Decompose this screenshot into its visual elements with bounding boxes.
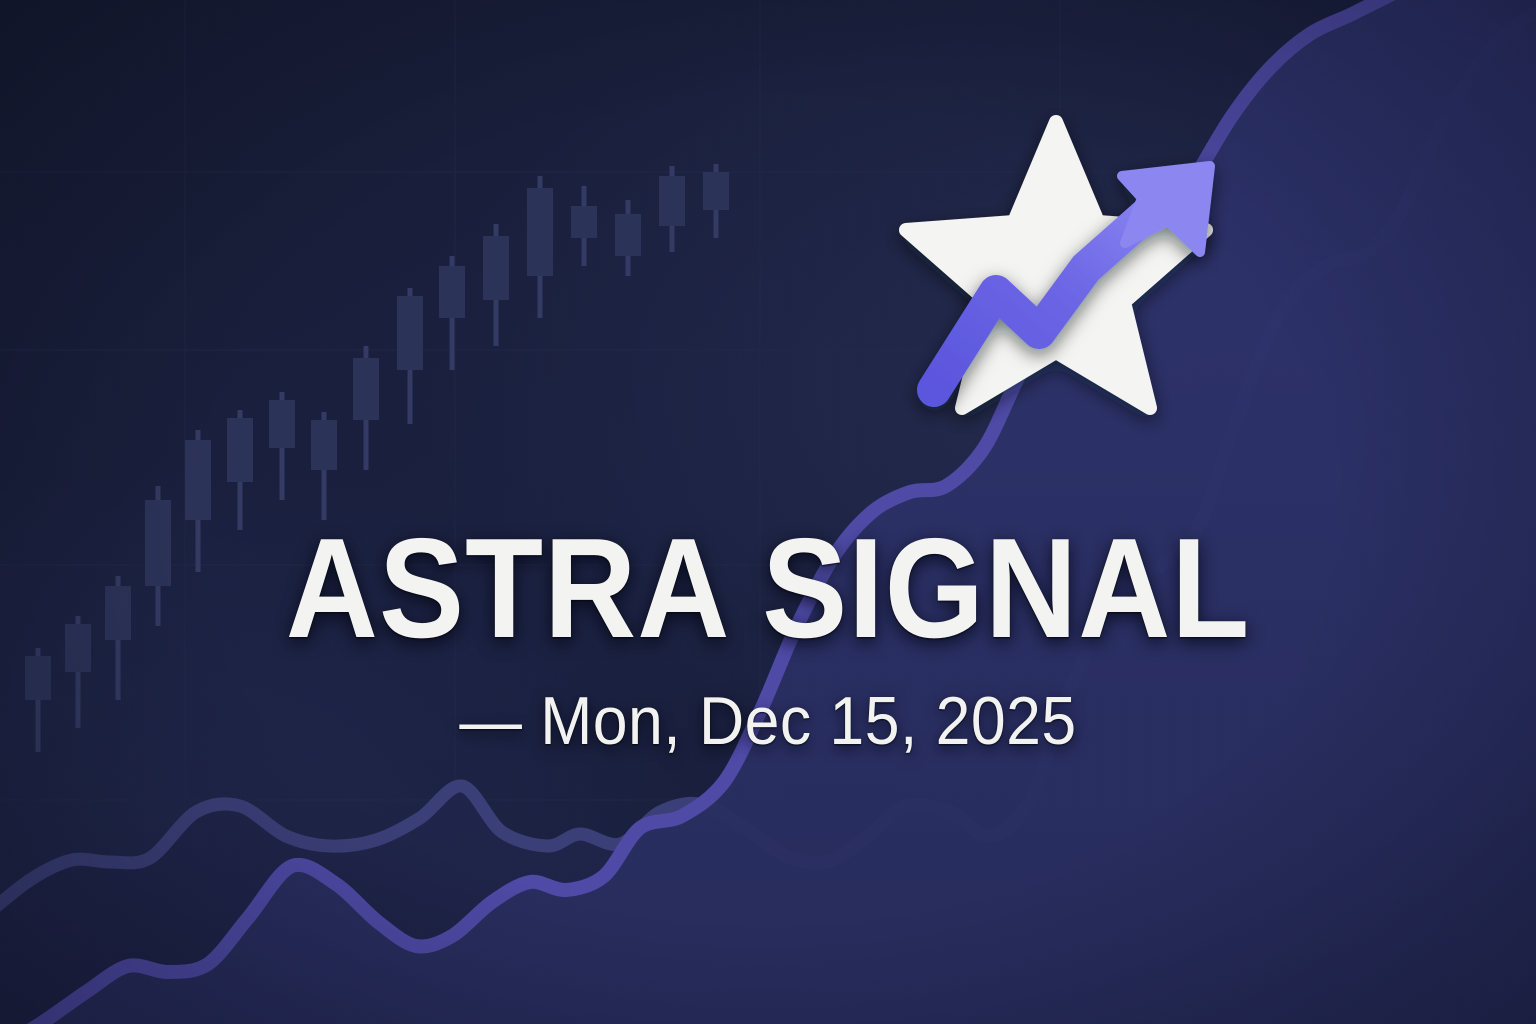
promo-banner: ASTRA SIGNAL — Mon, Dec 15, 2025 bbox=[0, 0, 1536, 1024]
banner-text-block: ASTRA SIGNAL — Mon, Dec 15, 2025 bbox=[0, 518, 1536, 757]
banner-subtitle: — Mon, Dec 15, 2025 bbox=[61, 686, 1474, 757]
page-title: ASTRA SIGNAL bbox=[77, 518, 1459, 660]
star-trending-arrow-logo bbox=[876, 100, 1236, 450]
